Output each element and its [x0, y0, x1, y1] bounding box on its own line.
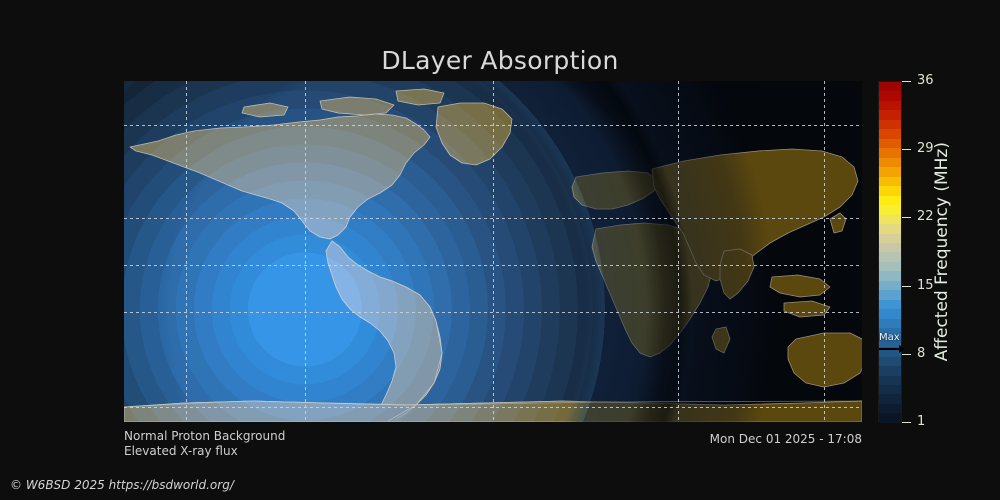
- colorbar-band: [879, 309, 901, 318]
- colorbar-band: [879, 158, 901, 167]
- colorbar-band: [879, 262, 901, 271]
- gridline-lat-30s: [124, 312, 862, 313]
- colorbar-band: [879, 413, 901, 422]
- gridline-lon-120w: [186, 81, 187, 422]
- colorbar-band: [879, 177, 901, 186]
- colorbar-band: [879, 120, 901, 129]
- colorbar-band: [879, 357, 901, 366]
- colorbar-band: [879, 215, 901, 224]
- colorbar-band: [879, 319, 901, 328]
- colorbar-gradient-strip: [878, 81, 902, 422]
- colorbar-tick: [902, 422, 911, 423]
- page-title: DLayer Absorption: [0, 46, 1000, 76]
- colorbar-band: [879, 186, 901, 195]
- colorbar-band: [879, 271, 901, 280]
- copyright-notice: © W6BSD 2025 https://bsdworld.org/: [10, 478, 234, 492]
- colorbar-tick: [902, 149, 911, 150]
- colorbar-band: [879, 290, 901, 299]
- colorbar-band: [879, 385, 901, 394]
- colorbar-axis-title-text: Affected Frequency (MHz): [932, 142, 952, 361]
- colorbar-band: [879, 148, 901, 157]
- colorbar-axis-title: Affected Frequency (MHz): [928, 81, 956, 422]
- colorbar-tick-label: 1: [917, 415, 925, 428]
- colorbar-band: [879, 300, 901, 309]
- colorbar-band: [879, 376, 901, 385]
- colorbar-band: [879, 196, 901, 205]
- colorbar-band: [879, 252, 901, 261]
- colorbar-band: [879, 366, 901, 375]
- colorbar-band: [879, 167, 901, 176]
- colorbar-band: [879, 404, 901, 413]
- colorbar-band: [879, 224, 901, 233]
- dlayer-absorption-screen: DLayer Absorption: [0, 0, 1000, 500]
- status-messages: Normal Proton Background Elevated X-ray …: [124, 429, 285, 459]
- colorbar-band: [879, 82, 901, 91]
- colorbar-band: [879, 110, 901, 119]
- world-absorption-map[interactable]: [124, 81, 862, 422]
- colorbar-tick: [902, 81, 911, 82]
- status-proton-background: Normal Proton Background: [124, 429, 285, 444]
- colorbar-band: [879, 281, 901, 290]
- timestamp: Mon Dec 01 2025 - 17:08: [562, 432, 862, 447]
- colorbar-band: [879, 91, 901, 100]
- colorbar-band: [879, 394, 901, 403]
- colorbar-tick: [902, 354, 911, 355]
- gridline-lat-30n: [124, 218, 862, 219]
- colorbar-tick: [902, 217, 911, 218]
- colorbar-band: [879, 243, 901, 252]
- gridline-lat-60s: [124, 407, 862, 408]
- colorbar-band: [879, 234, 901, 243]
- colorbar-band: [879, 129, 901, 138]
- status-xray-flux: Elevated X-ray flux: [124, 444, 285, 459]
- colorbar-tick: [902, 286, 911, 287]
- gridline-lon-60e: [678, 81, 679, 422]
- gridline-lat-60n: [124, 125, 862, 126]
- map-gridlines: [124, 81, 862, 422]
- colorbar-band: [879, 139, 901, 148]
- gridline-lon-60w: [305, 81, 306, 422]
- gridline-lat-0: [124, 265, 862, 266]
- gridline-lon-120e: [824, 81, 825, 422]
- colorbar[interactable]: 1815222936 Max: [878, 81, 902, 422]
- colorbar-band: [879, 101, 901, 110]
- colorbar-band: [879, 205, 901, 214]
- gridline-lon-0: [493, 81, 494, 422]
